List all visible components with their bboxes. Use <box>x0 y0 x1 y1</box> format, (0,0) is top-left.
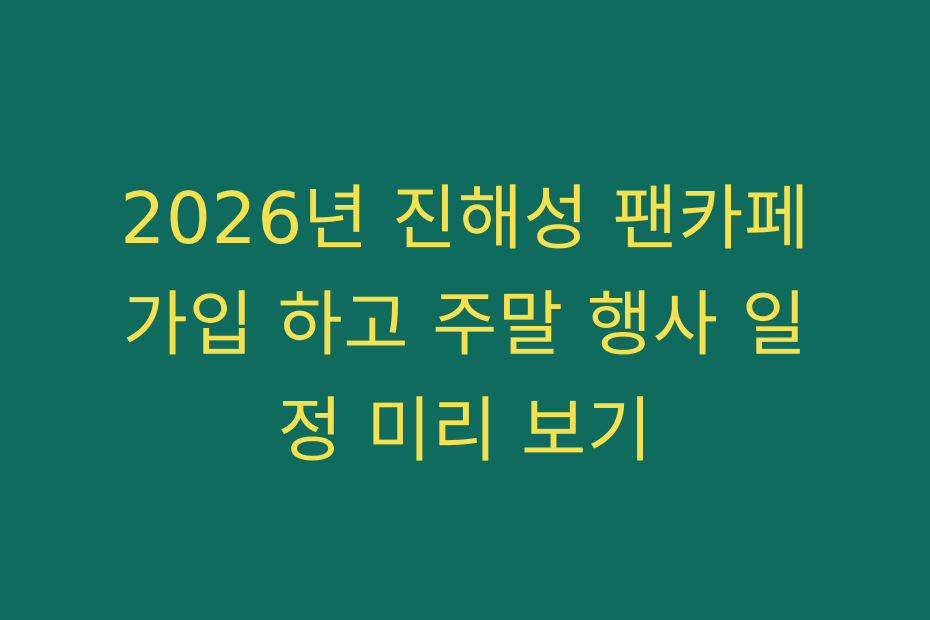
poster-canvas: 2026년 진해성 팬카페 가입 하고 주말 행사 일 정 미리 보기 <box>0 0 930 620</box>
headline-line-2: 가입 하고 주말 행사 일 <box>40 272 890 378</box>
headline-line-1: 2026년 진해성 팬카페 <box>40 166 890 272</box>
headline-line-3: 정 미리 보기 <box>40 378 890 484</box>
headline-block: 2026년 진해성 팬카페 가입 하고 주말 행사 일 정 미리 보기 <box>0 166 930 484</box>
